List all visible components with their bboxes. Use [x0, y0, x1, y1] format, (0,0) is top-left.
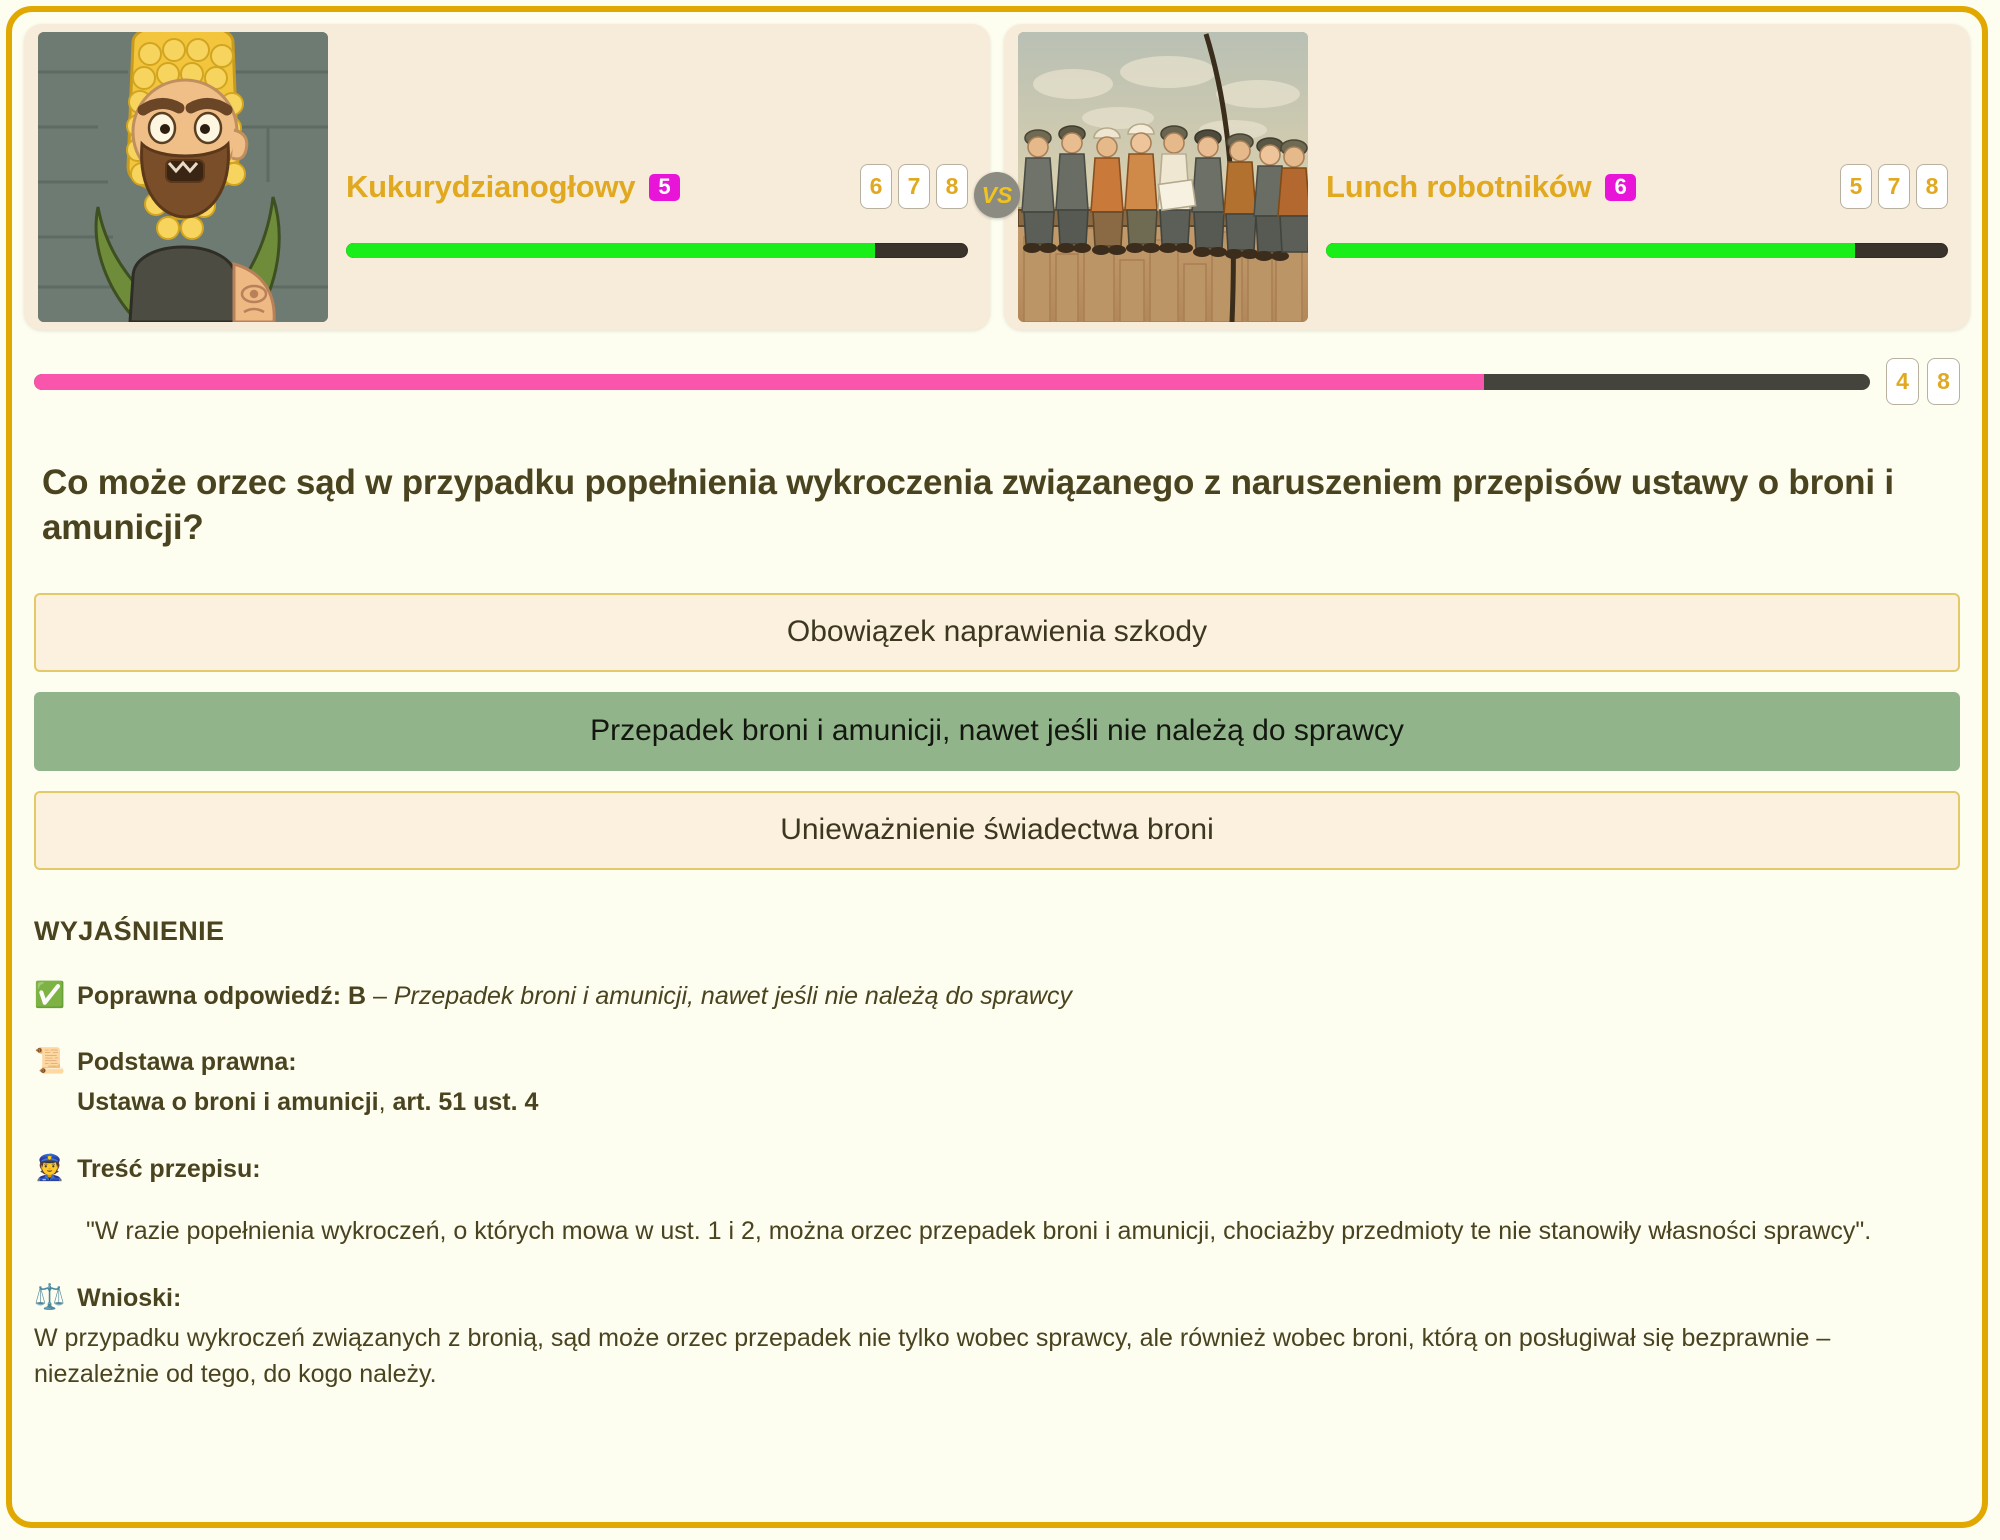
provision-label: Treść przepisu: — [77, 1153, 260, 1187]
player-right-tokens: 5 7 8 — [1840, 164, 1948, 209]
legal-article: art. 51 ust. 4 — [393, 1088, 539, 1116]
white-check-mark-icon: ✅ — [34, 980, 65, 1011]
provision-quote: "W razie popełnienia wykroczeń, o któryc… — [86, 1213, 1916, 1249]
legal-sep: , — [379, 1088, 393, 1116]
police-officer-icon: 👮 — [34, 1153, 65, 1184]
provision-line: 👮 Treść przepisu: — [34, 1153, 1960, 1187]
question-timer-fill — [34, 374, 1484, 390]
player-left-health-bar — [346, 243, 968, 258]
player-right-rank-badge: 6 — [1605, 174, 1635, 201]
token[interactable]: 8 — [1927, 358, 1960, 405]
player-left-name: Kukurydzianogłowy — [346, 169, 635, 205]
player-right-nameline: Lunch robotników 6 — [1326, 169, 1636, 205]
battle-row: Kukurydzianogłowy 5 6 7 8 VS — [12, 12, 1982, 330]
answer-option-b[interactable]: Przepadek broni i amunicji, nawet jeśli … — [34, 692, 1960, 771]
explanation-title: WYJAŚNIENIE — [34, 916, 1960, 947]
question-text: Co może orzec sąd w przypadku popełnieni… — [42, 461, 1952, 551]
legal-act-name: Ustawa o broni i amunicji — [77, 1088, 378, 1116]
answer-option-c[interactable]: Unieważnienie świadectwa broni — [34, 791, 1960, 870]
token[interactable]: 4 — [1886, 358, 1919, 405]
player-card-right[interactable]: Lunch robotników 6 5 7 8 — [1004, 24, 1970, 330]
legal-basis-line: 📜 Podstawa prawna: Ustawa o broni i amun… — [34, 1046, 1960, 1120]
player-left-tokens: 6 7 8 — [860, 164, 968, 209]
timer-tokens: 4 8 — [1886, 358, 1960, 405]
legal-basis-label: Podstawa prawna: — [77, 1048, 297, 1076]
player-right-health-bar — [1326, 243, 1948, 258]
token[interactable]: 7 — [898, 164, 930, 209]
correct-answer-line: ✅ Poprawna odpowiedź: B – Przepadek bron… — [34, 980, 1960, 1014]
token[interactable]: 8 — [1916, 164, 1948, 209]
timer-row: 4 8 — [12, 330, 1982, 405]
player-right-health-fill — [1326, 243, 1855, 258]
token[interactable]: 8 — [936, 164, 968, 209]
correct-answer-value: Przepadek broni i amunicji, nawet jeśli … — [394, 982, 1072, 1010]
scroll-icon: 📜 — [34, 1046, 65, 1077]
legal-basis-value: Ustawa o broni i amunicji, art. 51 ust. … — [77, 1086, 538, 1120]
legal-basis-block: Podstawa prawna: Ustawa o broni i amunic… — [77, 1046, 538, 1120]
balance-scale-icon: ⚖️ — [34, 1282, 65, 1313]
token[interactable]: 7 — [1878, 164, 1910, 209]
lunch-atop-skyscraper-avatar — [1018, 32, 1308, 322]
player-right-name: Lunch robotników — [1326, 169, 1591, 205]
answer-option-a[interactable]: Obowiązek naprawienia szkody — [34, 593, 1960, 672]
correct-answer-dash: – — [366, 982, 394, 1010]
quiz-page-frame: Kukurydzianogłowy 5 6 7 8 VS — [6, 6, 1988, 1528]
conclusion-line: ⚖️ Wnioski: — [34, 1282, 1960, 1316]
vs-badge: VS — [974, 172, 1020, 218]
answers-list: Obowiązek naprawienia szkody Przepadek b… — [34, 593, 1960, 870]
token[interactable]: 5 — [1840, 164, 1872, 209]
player-left-rank-badge: 5 — [649, 174, 679, 201]
token[interactable]: 6 — [860, 164, 892, 209]
correct-answer-text: Poprawna odpowiedź: B – Przepadek broni … — [77, 980, 1072, 1014]
player-left-nameline: Kukurydzianogłowy 5 — [346, 169, 680, 205]
player-card-left[interactable]: Kukurydzianogłowy 5 6 7 8 — [24, 24, 990, 330]
player-left-body: Kukurydzianogłowy 5 6 7 8 — [328, 38, 976, 316]
player-left-health-fill — [346, 243, 875, 258]
correct-answer-label: Poprawna odpowiedź: B — [77, 982, 366, 1010]
conclusion-label: Wnioski: — [77, 1282, 181, 1316]
conclusion-text: W przypadku wykroczeń związanych z broni… — [34, 1320, 1934, 1393]
player-right-body: Lunch robotników 6 5 7 8 — [1308, 38, 1956, 316]
corn-head-character-avatar — [38, 32, 328, 322]
explanation-section: WYJAŚNIENIE ✅ Poprawna odpowiedź: B – Pr… — [34, 916, 1960, 1393]
question-timer-bar — [34, 374, 1870, 390]
